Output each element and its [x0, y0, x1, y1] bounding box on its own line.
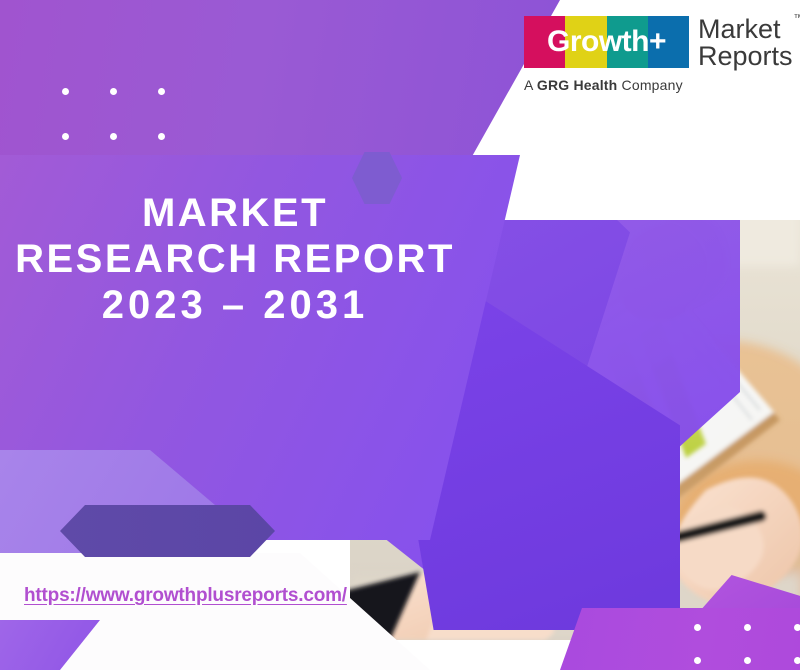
dot [694, 657, 701, 664]
dot [744, 657, 751, 664]
logo-brand-line-2: Reports [698, 43, 793, 70]
trademark-symbol: ™ [794, 13, 800, 24]
dot [158, 88, 165, 95]
dot [794, 657, 800, 664]
dot-grid-bottom-right [694, 624, 800, 664]
logo-tagline: A GRG Health Company [524, 77, 793, 93]
dot [794, 624, 800, 631]
hex-band-dark [60, 505, 275, 557]
dot [694, 624, 701, 631]
logo-brand-line-1: Market [698, 16, 793, 43]
dot-grid-top-left [62, 88, 164, 140]
title-line-1: MARKET [0, 190, 470, 236]
dot [110, 88, 117, 95]
logo-wordmark: Growth+ [524, 16, 689, 68]
dot [62, 133, 69, 140]
title-line-3: 2023 – 2031 [0, 282, 470, 328]
dot [744, 624, 751, 631]
brand-logo[interactable]: Growth+ Market Reports ™ A GRG Health Co… [524, 16, 793, 93]
dot [158, 133, 165, 140]
page-title: MARKET RESEARCH REPORT 2023 – 2031 [0, 190, 470, 328]
dot [110, 133, 117, 140]
report-cover: MARKET RESEARCH REPORT 2023 – 2031 https… [0, 0, 800, 670]
logo-tagline-suffix: Company [617, 77, 682, 93]
logo-tagline-bold: GRG Health [537, 77, 618, 93]
logo-tagline-prefix: A [524, 77, 537, 93]
dot [62, 88, 69, 95]
website-url-link[interactable]: https://www.growthplusreports.com/ [24, 585, 347, 607]
title-line-2: RESEARCH REPORT [0, 236, 470, 282]
logo-color-blocks: Growth+ [524, 16, 689, 68]
logo-brand-text: Market Reports ™ [698, 16, 793, 70]
